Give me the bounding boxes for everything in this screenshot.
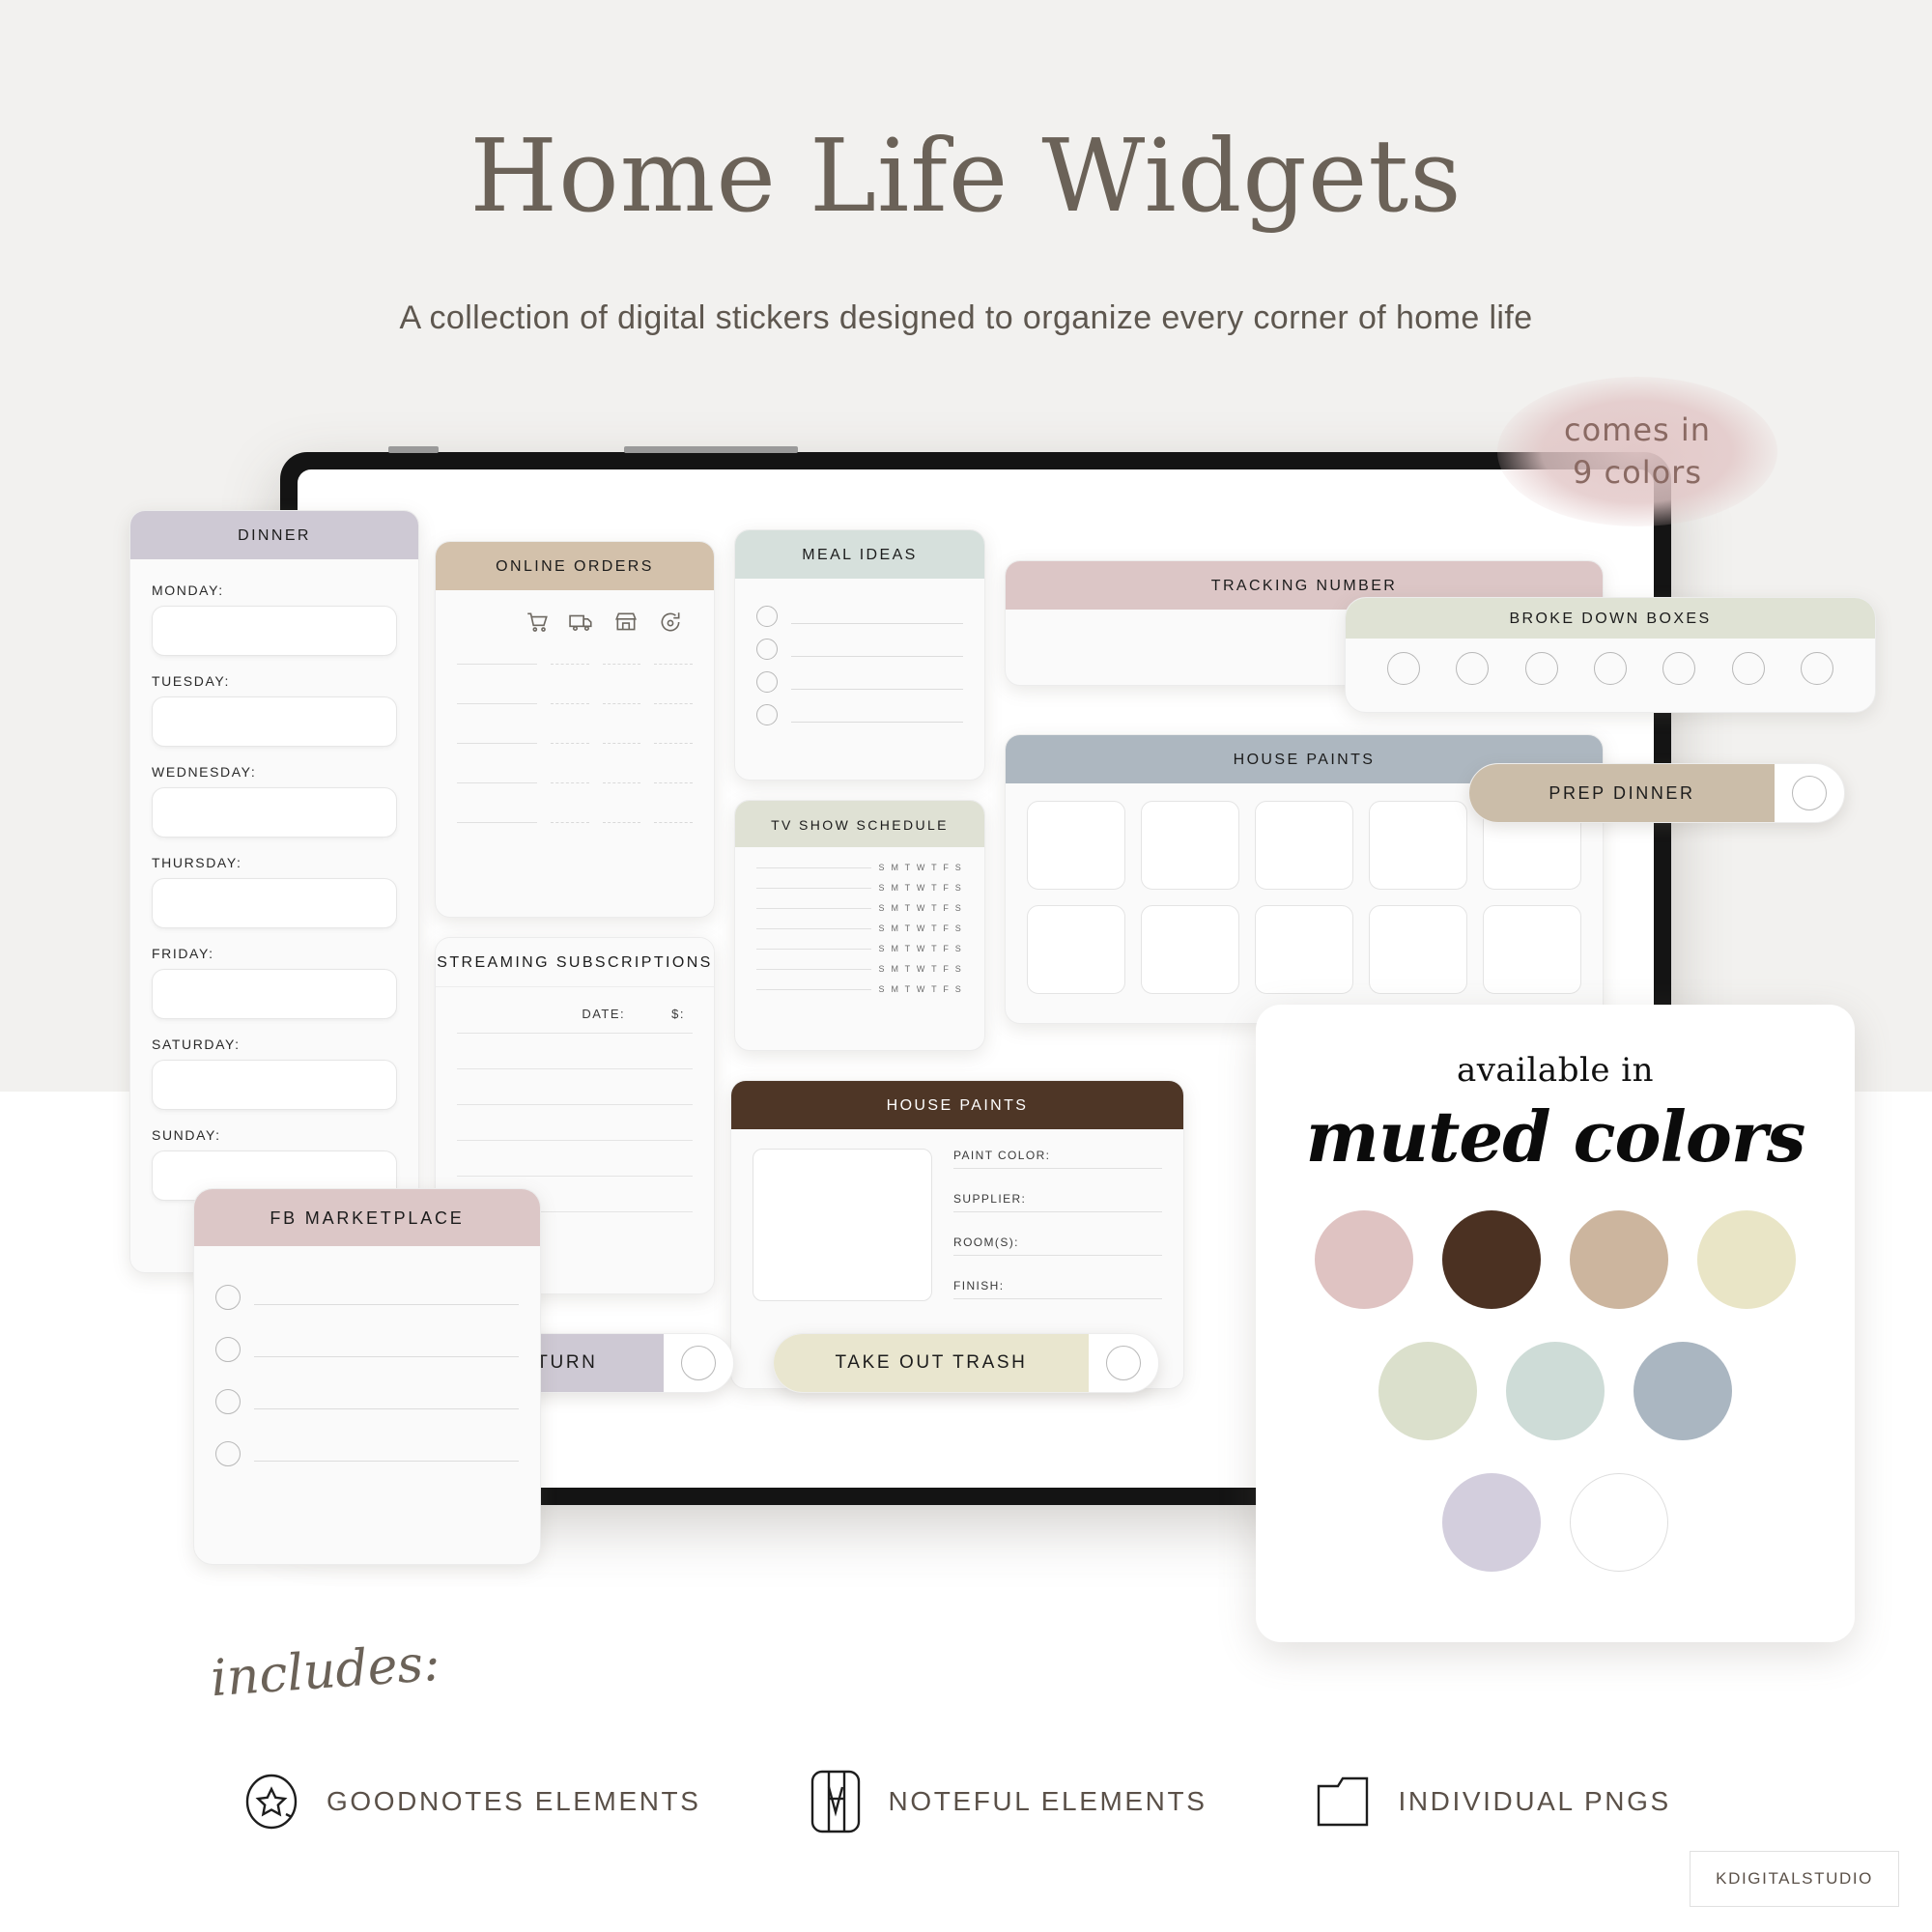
comes-in-colors-badge: comes in 9 colors <box>1497 377 1777 526</box>
return-arrow-icon <box>658 610 683 635</box>
paint-swatch-cell[interactable] <box>1255 801 1353 890</box>
checkbox-circle-icon[interactable] <box>215 1285 241 1310</box>
meal-idea-row[interactable] <box>756 666 963 698</box>
tv-days-abbr: S M T W T F S <box>879 923 963 933</box>
tv-days-abbr: S M T W T F S <box>879 903 963 913</box>
checkbox-circle-icon[interactable] <box>756 639 778 660</box>
checkbox-circle-icon[interactable] <box>215 1337 241 1362</box>
pill-prep-dinner-knob[interactable] <box>1775 776 1844 810</box>
dinner-day-label: THURSDAY: <box>152 855 397 870</box>
swatch-row-1 <box>1294 1210 1816 1309</box>
paint-swatch-cell[interactable] <box>1141 801 1239 890</box>
tv-days-abbr: S M T W T F S <box>879 984 963 994</box>
page-title: Home Life Widgets <box>0 124 1932 229</box>
color-swatch-tan[interactable] <box>1570 1210 1668 1309</box>
checkbox-circle-icon[interactable] <box>1662 652 1695 685</box>
shopping-cart-icon <box>525 610 550 635</box>
field-rooms[interactable]: ROOM(S): <box>953 1236 1162 1256</box>
widget-house-paints-detail-title: HOUSE PAINTS <box>731 1081 1183 1129</box>
checkbox-circle-icon[interactable] <box>1792 776 1827 810</box>
dinner-day-input[interactable] <box>152 1060 397 1110</box>
dinner-day-label: FRIDAY: <box>152 946 397 961</box>
page-subtitle: A collection of digital stickers designe… <box>0 299 1932 337</box>
tv-days-abbr: S M T W T F S <box>879 863 963 872</box>
dinner-day-label: SATURDAY: <box>152 1037 397 1052</box>
online-orders-rows[interactable] <box>457 639 693 823</box>
pill-return-knob[interactable] <box>664 1346 733 1380</box>
meal-idea-row[interactable] <box>756 600 963 633</box>
dinner-day-thursday[interactable]: THURSDAY: <box>152 855 397 928</box>
muted-colors-card: available in muted colors <box>1256 1005 1855 1642</box>
field-supplier-label: SUPPLIER: <box>953 1192 1162 1206</box>
dinner-day-friday[interactable]: FRIDAY: <box>152 946 397 1019</box>
color-swatch-mint-gray[interactable] <box>1506 1342 1605 1440</box>
color-swatch-blush-pink[interactable] <box>1315 1210 1413 1309</box>
badge-line-2: 9 colors <box>1573 452 1702 494</box>
broke-down-boxes-circles[interactable] <box>1346 639 1875 698</box>
field-paint-color[interactable]: PAINT COLOR: <box>953 1149 1162 1169</box>
widget-fb-marketplace[interactable]: FB MARKETPLACE <box>193 1188 541 1565</box>
online-orders-row[interactable] <box>457 743 693 744</box>
streaming-row[interactable] <box>457 1033 693 1034</box>
pill-take-out-trash-knob[interactable] <box>1089 1346 1158 1380</box>
meal-idea-row[interactable] <box>756 698 963 731</box>
checkbox-circle-icon[interactable] <box>1801 652 1833 685</box>
dinner-day-input[interactable] <box>152 606 397 656</box>
streaming-row[interactable] <box>457 1068 693 1069</box>
dinner-day-wednesday[interactable]: WEDNESDAY: <box>152 764 397 838</box>
paint-swatch-cell[interactable] <box>1027 801 1125 890</box>
color-swatch-white[interactable] <box>1570 1473 1668 1572</box>
paint-swatch-cell[interactable] <box>1141 905 1239 994</box>
widget-fb-marketplace-title: FB MARKETPLACE <box>194 1189 540 1246</box>
field-supplier[interactable]: SUPPLIER: <box>953 1192 1162 1212</box>
paint-color-preview[interactable] <box>753 1149 932 1301</box>
online-orders-row[interactable] <box>457 664 693 665</box>
tv-schedule-row[interactable]: S M T W T F S <box>756 944 963 953</box>
checkbox-circle-icon[interactable] <box>756 671 778 693</box>
dinner-day-input[interactable] <box>152 696 397 747</box>
store-icon <box>613 610 639 635</box>
dinner-day-saturday[interactable]: SATURDAY: <box>152 1037 397 1110</box>
tv-days-abbr: S M T W T F S <box>879 944 963 953</box>
widget-broke-down-boxes[interactable]: BROKE DOWN BOXES <box>1345 597 1876 713</box>
checkbox-circle-icon[interactable] <box>756 606 778 627</box>
muted-available-label: available in <box>1294 1051 1816 1090</box>
fb-marketplace-row[interactable] <box>215 1376 519 1428</box>
online-orders-row[interactable] <box>457 822 693 823</box>
color-swatch-sage-light[interactable] <box>1378 1342 1477 1440</box>
tv-schedule-row[interactable]: S M T W T F S <box>756 863 963 872</box>
color-swatch-cream[interactable] <box>1697 1210 1796 1309</box>
widget-meal-ideas[interactable]: MEAL IDEAS <box>734 529 985 781</box>
tv-schedule-row[interactable]: S M T W T F S <box>756 964 963 974</box>
widget-meal-ideas-title: MEAL IDEAS <box>735 530 984 579</box>
streaming-row[interactable] <box>457 1140 693 1141</box>
badge-line-1: comes in <box>1564 410 1711 451</box>
checkbox-circle-icon[interactable] <box>215 1389 241 1414</box>
checkbox-circle-icon[interactable] <box>1106 1346 1141 1380</box>
paint-swatch-cell[interactable] <box>1369 801 1467 890</box>
house-paints-fields[interactable]: PAINT COLOR: SUPPLIER: ROOM(S): FINISH: <box>953 1149 1162 1322</box>
include-item-noteful: NOTEFUL ELEMENTS <box>808 1768 1207 1835</box>
dinner-day-input[interactable] <box>152 878 397 928</box>
tablet-volume-button <box>388 446 439 453</box>
field-finish-label: FINISH: <box>953 1279 1162 1293</box>
tv-days-abbr: S M T W T F S <box>879 883 963 893</box>
widget-dinner[interactable]: DINNER MONDAY: TUESDAY: WEDNESDAY: THURS… <box>129 510 419 1273</box>
paint-swatch-cell[interactable] <box>1369 905 1467 994</box>
includes-row: GOODNOTES ELEMENTS NOTEFUL ELEMENTS INDI… <box>241 1768 1690 1835</box>
paint-swatch-cell[interactable] <box>1255 905 1353 994</box>
field-rooms-label: ROOM(S): <box>953 1236 1162 1249</box>
streaming-column-headers: DATE: $: <box>457 1003 693 1033</box>
widget-streaming-title: STREAMING SUBSCRIPTIONS <box>436 938 714 987</box>
tv-schedule-row[interactable]: S M T W T F S <box>756 923 963 933</box>
delivery-truck-icon <box>569 610 594 635</box>
widget-dinner-title: DINNER <box>130 511 418 559</box>
online-orders-row[interactable] <box>457 782 693 783</box>
checkbox-circle-icon[interactable] <box>1732 652 1765 685</box>
tv-schedule-row[interactable]: S M T W T F S <box>756 883 963 893</box>
dinner-day-input[interactable] <box>152 787 397 838</box>
checkbox-circle-icon[interactable] <box>1387 652 1420 685</box>
fb-marketplace-row[interactable] <box>215 1428 519 1480</box>
include-item-goodnotes-label: GOODNOTES ELEMENTS <box>327 1786 701 1817</box>
include-item-goodnotes: GOODNOTES ELEMENTS <box>241 1772 701 1832</box>
online-orders-icon-row <box>457 596 693 639</box>
color-swatch-lavender[interactable] <box>1442 1473 1541 1572</box>
tablet-power-button <box>624 446 798 453</box>
widget-online-orders[interactable]: ONLINE ORDERS <box>435 541 715 918</box>
folder-icon <box>1313 1771 1373 1833</box>
checkbox-circle-icon[interactable] <box>1594 652 1627 685</box>
color-swatch-blue-gray[interactable] <box>1634 1342 1732 1440</box>
fb-marketplace-row[interactable] <box>215 1271 519 1323</box>
paint-swatch-cell[interactable] <box>1483 905 1581 994</box>
dinner-day-tuesday[interactable]: TUESDAY: <box>152 673 397 747</box>
online-orders-row[interactable] <box>457 703 693 704</box>
include-item-noteful-label: NOTEFUL ELEMENTS <box>889 1786 1207 1817</box>
goodnotes-sticker-icon <box>241 1772 301 1832</box>
checkbox-circle-icon[interactable] <box>681 1346 716 1380</box>
dinner-day-label: TUESDAY: <box>152 673 397 689</box>
checkbox-circle-icon[interactable] <box>1525 652 1558 685</box>
streaming-row[interactable] <box>457 1176 693 1177</box>
streaming-row[interactable] <box>457 1104 693 1105</box>
muted-colors-title: muted colors <box>1294 1095 1816 1178</box>
widget-online-orders-title: ONLINE ORDERS <box>436 542 714 590</box>
tv-schedule-row[interactable]: S M T W T F S <box>756 903 963 913</box>
pill-prep-dinner[interactable]: PREP DINNER <box>1468 763 1845 823</box>
streaming-col-price: $: <box>671 1007 685 1021</box>
dinner-day-label: MONDAY: <box>152 582 397 598</box>
dinner-day-monday[interactable]: MONDAY: <box>152 582 397 656</box>
swatch-row-3 <box>1294 1473 1816 1572</box>
include-item-pngs-label: INDIVIDUAL PNGS <box>1398 1786 1670 1817</box>
pill-take-out-trash-label: TAKE OUT TRASH <box>774 1334 1089 1392</box>
widget-tv-show-schedule[interactable]: TV SHOW SCHEDULE S M T W T F S S M T W T… <box>734 800 985 1051</box>
checkbox-circle-icon[interactable] <box>215 1441 241 1466</box>
pill-take-out-trash[interactable]: TAKE OUT TRASH <box>773 1333 1159 1393</box>
tv-days-abbr: S M T W T F S <box>879 964 963 974</box>
pill-prep-dinner-label: PREP DINNER <box>1469 764 1775 822</box>
widget-broke-down-boxes-title: BROKE DOWN BOXES <box>1346 598 1875 639</box>
streaming-col-date: DATE: <box>582 1007 625 1021</box>
dinner-day-label: SUNDAY: <box>152 1127 397 1143</box>
dinner-day-input[interactable] <box>152 969 397 1019</box>
widget-tv-title: TV SHOW SCHEDULE <box>735 801 984 847</box>
meal-idea-row[interactable] <box>756 633 963 666</box>
tv-schedule-row[interactable]: S M T W T F S <box>756 984 963 994</box>
checkbox-circle-icon[interactable] <box>756 704 778 725</box>
fb-marketplace-row[interactable] <box>215 1323 519 1376</box>
include-item-pngs: INDIVIDUAL PNGS <box>1313 1771 1670 1833</box>
swatch-row-2 <box>1294 1342 1816 1440</box>
field-finish[interactable]: FINISH: <box>953 1279 1162 1299</box>
noteful-elements-icon <box>808 1768 864 1835</box>
checkbox-circle-icon[interactable] <box>1456 652 1489 685</box>
dinner-day-label: WEDNESDAY: <box>152 764 397 780</box>
paint-swatch-cell[interactable] <box>1027 905 1125 994</box>
watermark: KDIGITALSTUDIO <box>1690 1851 1899 1907</box>
color-swatch-dark-brown[interactable] <box>1442 1210 1541 1309</box>
field-paint-color-label: PAINT COLOR: <box>953 1149 1162 1162</box>
